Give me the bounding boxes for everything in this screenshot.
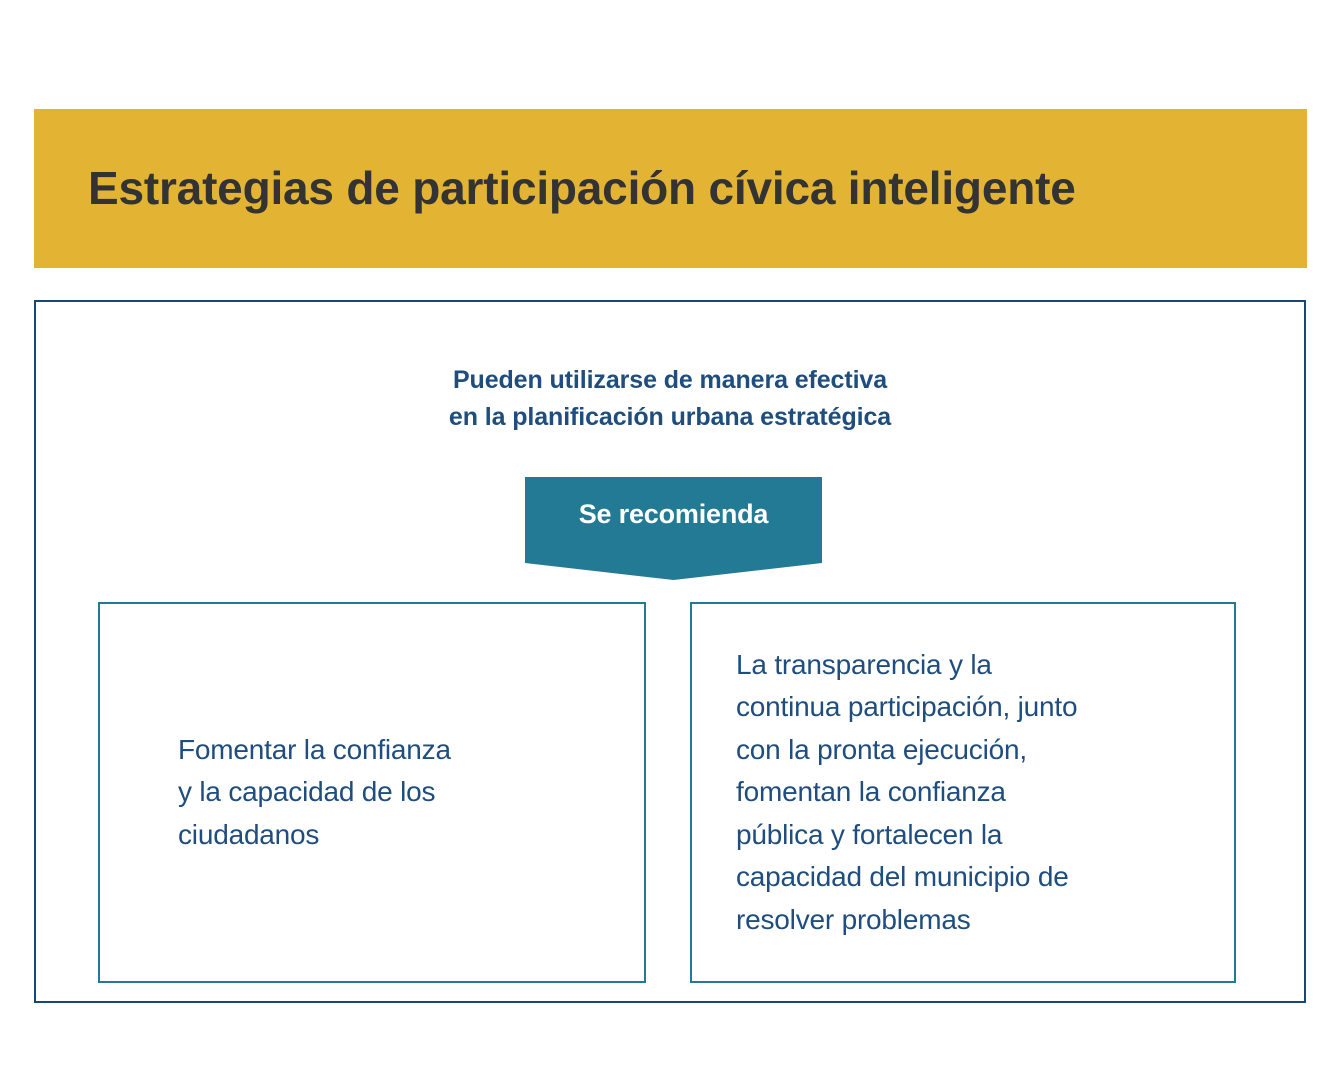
card-right-line-4: fomentan la confianza <box>736 771 1077 814</box>
outcome-cards-row: Fomentar la confianza y la capacidad de … <box>36 302 1304 1001</box>
card-right-line-7: resolver problemas <box>736 899 1077 942</box>
card-right-line-6: capacidad del municipio de <box>736 856 1077 899</box>
card-transparencia-text: La transparencia y la continua participa… <box>692 644 1093 942</box>
card-right-line-2: continua participación, junto <box>736 686 1077 729</box>
card-right-line-3: con la pronta ejecución, <box>736 729 1077 772</box>
page-title: Estrategias de participación cívica inte… <box>88 163 1076 214</box>
card-right-line-5: pública y fortalecen la <box>736 814 1077 857</box>
card-left-line-1: Fomentar la confianza <box>178 729 451 772</box>
header-banner: Estrategias de participación cívica inte… <box>34 109 1307 268</box>
card-left-line-3: ciudadanos <box>178 814 451 857</box>
card-fomentar-confianza: Fomentar la confianza y la capacidad de … <box>98 602 646 983</box>
card-fomentar-confianza-text: Fomentar la confianza y la capacidad de … <box>100 729 471 857</box>
card-right-line-1: La transparencia y la <box>736 644 1077 687</box>
card-transparencia: La transparencia y la continua participa… <box>690 602 1236 983</box>
content-frame: Pueden utilizarse de manera efectiva en … <box>34 300 1306 1003</box>
card-left-line-2: y la capacidad de los <box>178 771 451 814</box>
